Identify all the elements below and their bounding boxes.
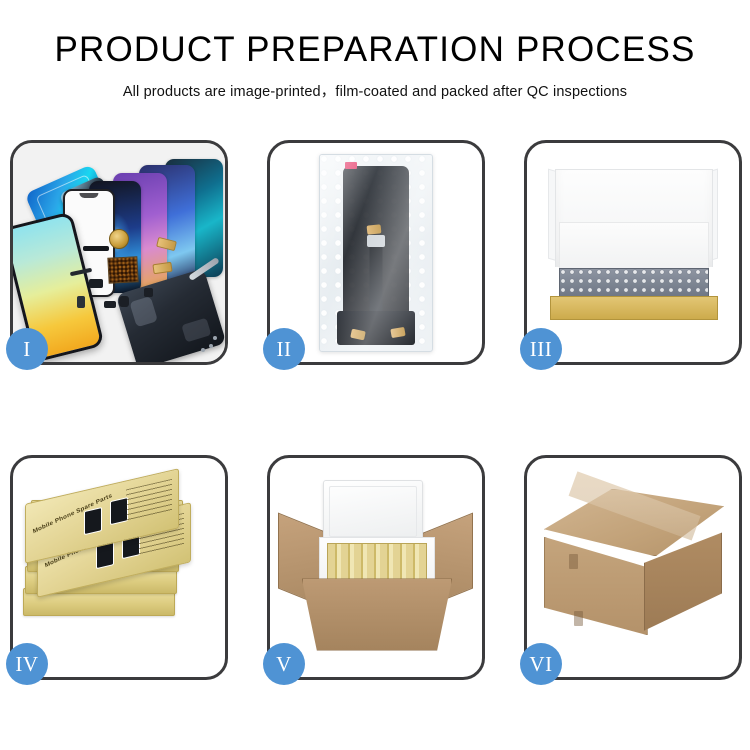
step-5-image	[270, 458, 482, 677]
carton-seal-2	[574, 611, 583, 626]
styrofoam-lid	[323, 480, 423, 543]
packed-retail-boxes	[327, 543, 427, 582]
spare-part-module-4	[104, 301, 116, 308]
process-step-4: Mobile Phone Spare Parts Mobile Phone Sp…	[10, 455, 228, 680]
bubble-wrap-bag	[319, 154, 433, 352]
step-badge-5: V	[263, 643, 305, 685]
screw-icon-3	[213, 336, 217, 340]
process-step-6: VI	[524, 455, 742, 680]
bubble-wrap-layer	[559, 268, 709, 298]
step-1-image	[13, 143, 225, 362]
process-step-1: I	[10, 140, 228, 365]
step-6-image	[527, 458, 739, 677]
spare-part-bar	[83, 246, 109, 251]
sealed-carton-front	[544, 537, 648, 635]
spare-part-module-3	[144, 288, 153, 297]
spare-part-module-2	[119, 296, 129, 307]
step-2-image	[270, 143, 482, 362]
page-title: PRODUCT PREPARATION PROCESS	[0, 32, 750, 69]
carton-body	[302, 578, 452, 650]
step-badge-1: I	[6, 328, 48, 370]
retail-box-stack: Mobile Phone Spare Parts Mobile Phone Sp…	[13, 458, 225, 677]
process-step-3: III	[524, 140, 742, 365]
step-badge-6: VI	[520, 643, 562, 685]
step-badge-4: IV	[6, 643, 48, 685]
kraft-tray-front	[550, 296, 717, 320]
page-header: PRODUCT PREPARATION PROCESS All products…	[0, 0, 750, 101]
box-spec-lines-top	[126, 479, 172, 524]
gold-contact-1	[366, 224, 381, 234]
box-art-thumb-1	[84, 507, 102, 535]
step-badge-2: II	[263, 328, 305, 370]
display-connector	[367, 235, 385, 247]
step-3-image	[527, 143, 739, 362]
process-step-2: II	[267, 140, 485, 365]
spare-part-module-1	[89, 279, 103, 288]
step-4-image: Mobile Phone Spare Parts Mobile Phone Sp…	[13, 458, 225, 677]
step-badge-3: III	[520, 328, 562, 370]
carton-seal-1	[569, 554, 578, 569]
qc-sticker-icon	[345, 162, 357, 169]
process-step-grid: I II III	[10, 140, 742, 680]
notch-icon	[79, 193, 98, 198]
page-subtitle: All products are image-printed，film-coat…	[0, 80, 750, 101]
spare-part-chip	[108, 256, 139, 284]
screw-icon-1	[209, 344, 213, 348]
spare-part-coil	[109, 229, 129, 249]
process-step-5: V	[267, 455, 485, 680]
screw-icon-2	[201, 348, 205, 352]
spare-part-module-5	[77, 296, 85, 308]
